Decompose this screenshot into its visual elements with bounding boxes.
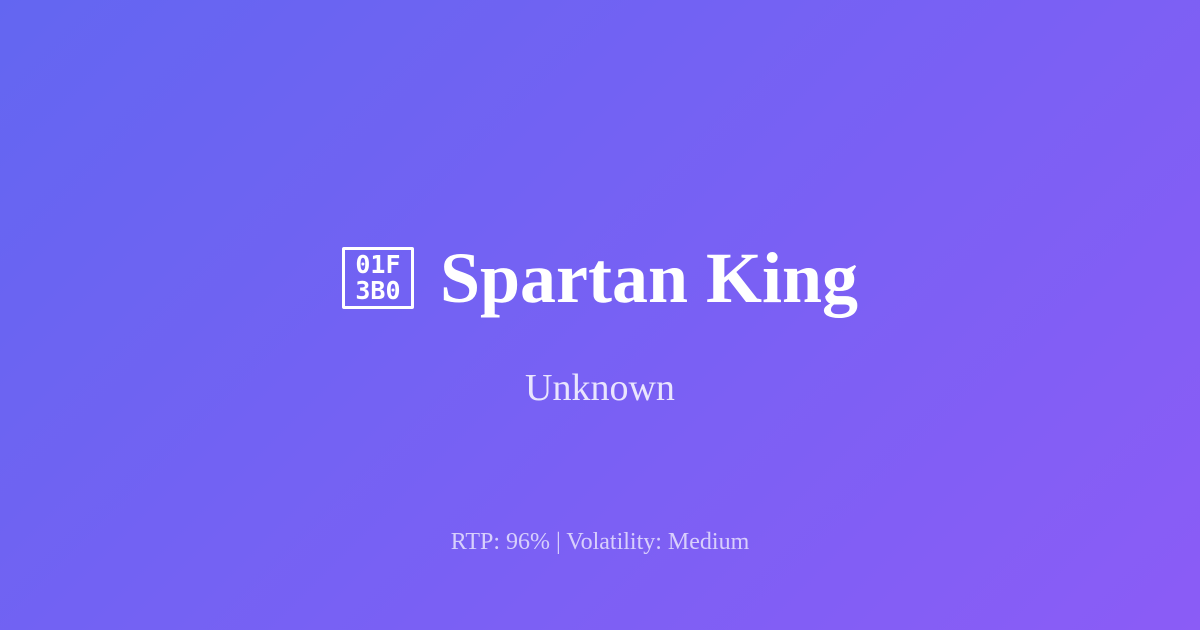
title-row: 01F 3B0 Spartan King bbox=[0, 232, 1200, 324]
page-title: Spartan King bbox=[440, 236, 858, 320]
game-preview-card: 01F 3B0 Spartan King Unknown RTP: 96% | … bbox=[0, 0, 1200, 630]
slot-machine-emoji-tofu-icon: 01F 3B0 bbox=[342, 247, 414, 309]
game-stats-line: RTP: 96% | Volatility: Medium bbox=[0, 527, 1200, 557]
tofu-codepoint-bottom: 3B0 bbox=[355, 278, 400, 304]
tofu-codepoint-top: 01F bbox=[355, 252, 400, 278]
provider-label: Unknown bbox=[0, 365, 1200, 411]
